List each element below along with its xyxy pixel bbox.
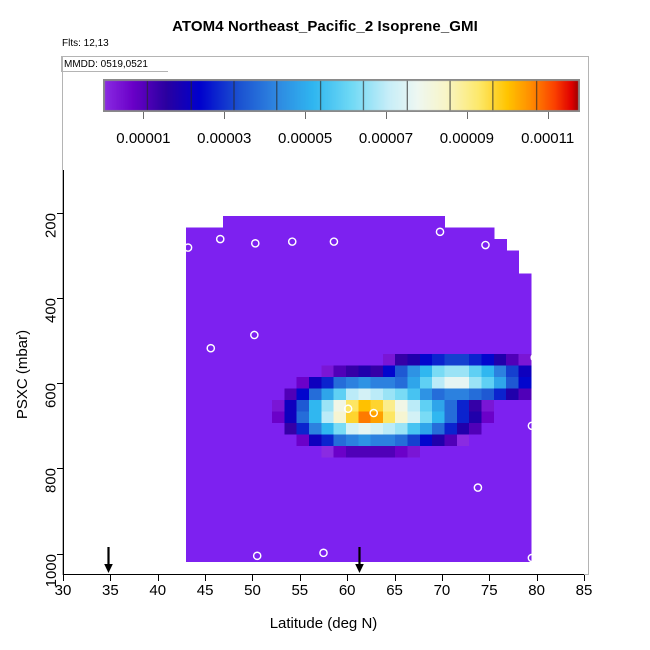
colorbar-tick	[305, 112, 306, 119]
x-axis-tick	[110, 575, 111, 581]
x-axis-tick-label: 55	[291, 582, 308, 599]
colorbar-tick-label: 0.00001	[116, 130, 170, 147]
y-axis-tick-label: 1000	[43, 554, 60, 587]
x-axis-tick-label: 65	[386, 582, 403, 599]
x-axis-tick	[489, 575, 490, 581]
colorbar	[103, 79, 580, 112]
colorbar-gradient	[103, 79, 580, 112]
x-axis-tick-label: 80	[528, 582, 545, 599]
x-axis-tick	[158, 575, 159, 581]
y-axis-tick-label: 400	[43, 298, 60, 323]
x-axis-tick	[442, 575, 443, 581]
colorbar-tick-label: 0.00003	[197, 130, 251, 147]
x-axis-tick-label: 60	[339, 582, 356, 599]
x-axis-tick-label: 45	[197, 582, 214, 599]
y-axis-tick-label: 600	[43, 383, 60, 408]
y-axis-title: PSXC (mbar)	[14, 172, 31, 577]
x-axis-tick-label: 50	[244, 582, 261, 599]
x-axis-tick-label: 35	[102, 582, 119, 599]
latitude-marker-arrow	[102, 547, 115, 573]
flights-annotation: Flts: 12,13	[62, 38, 109, 49]
heatmap-raster	[63, 170, 584, 575]
y-axis-tick-label: 200	[43, 213, 60, 238]
colorbar-tick	[548, 112, 549, 119]
x-axis-title: Latitude (deg N)	[63, 615, 584, 632]
colorbar-tick-label: 0.00011	[521, 130, 574, 147]
x-axis-tick-label: 85	[576, 582, 593, 599]
colorbar-tick	[224, 112, 225, 119]
colorbar-tick	[386, 112, 387, 119]
colorbar-tick	[467, 112, 468, 119]
page-title: ATOM4 Northeast_Pacific_2 Isoprene_GMI	[0, 18, 650, 35]
x-axis-tick	[252, 575, 253, 581]
x-axis-line	[63, 574, 584, 575]
colorbar-tick	[143, 112, 144, 119]
y-axis-line	[63, 170, 64, 575]
x-axis-tick	[584, 575, 585, 581]
colorbar-tick-label: 0.00009	[440, 130, 494, 147]
x-axis-tick	[205, 575, 206, 581]
x-axis-tick-label: 40	[149, 582, 166, 599]
x-axis-tick-label: 70	[434, 582, 451, 599]
x-axis-tick	[347, 575, 348, 581]
x-axis-tick	[395, 575, 396, 581]
x-axis-tick	[537, 575, 538, 581]
colorbar-tick-label: 0.00007	[359, 130, 413, 147]
x-axis-tick	[300, 575, 301, 581]
x-axis-tick-label: 75	[481, 582, 498, 599]
latitude-marker-arrow	[353, 547, 366, 573]
colorbar-tick-label: 0.00005	[278, 130, 332, 147]
plot-area: 303540455055606570758085 200400600800100…	[63, 170, 584, 575]
y-axis-tick-label: 800	[43, 468, 60, 493]
x-axis-tick	[63, 575, 64, 581]
